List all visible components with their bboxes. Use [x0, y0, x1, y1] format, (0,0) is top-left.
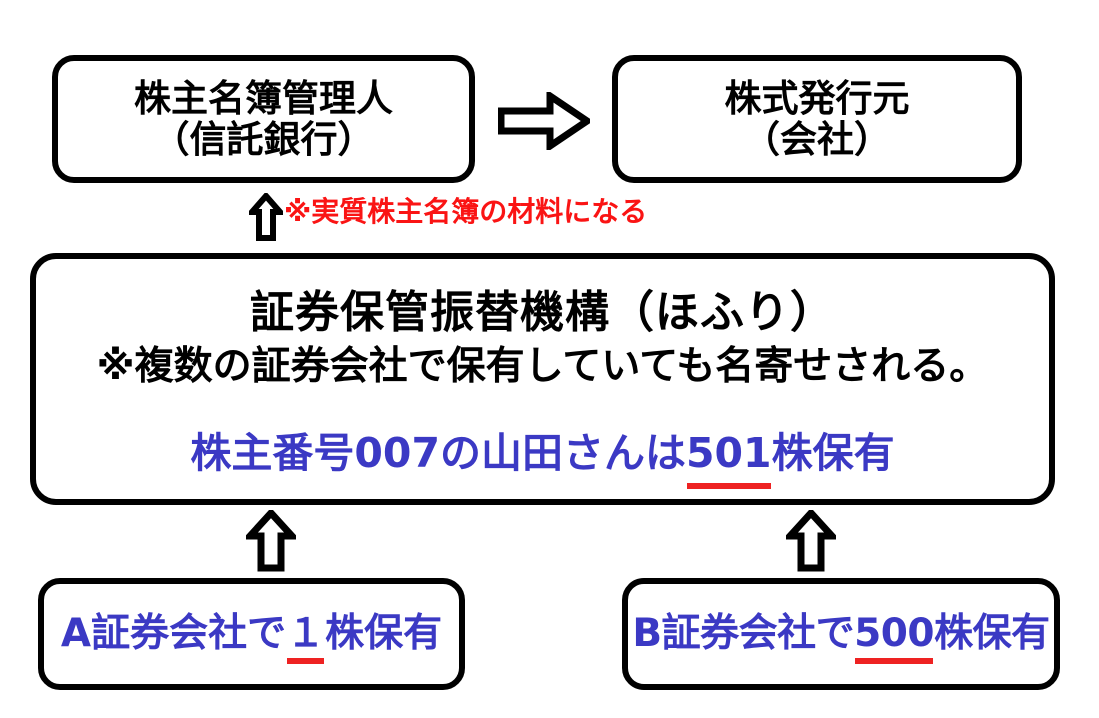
arrow-up-icon-to-registrar: [249, 193, 283, 241]
arrow-up-icon-broker-a: [246, 510, 296, 572]
broker-b-line: B証券会社で500株保有: [632, 613, 1049, 656]
annotation-material-note: ※実質株主名簿の材料になる: [284, 198, 647, 226]
broker-b-suffix: 株保有: [934, 611, 1050, 656]
box-broker-a: A証券会社で１株保有: [38, 578, 465, 690]
registrar-line2: （信託銀行）: [153, 119, 375, 160]
issuer-line1: 株式発行元: [725, 78, 910, 119]
broker-a-suffix: 株保有: [325, 611, 442, 656]
depository-title: 証券保管振替機構（ほふり）: [36, 285, 1049, 340]
broker-a-line: A証券会社で１株保有: [61, 613, 442, 656]
depository-note: ※複数の証券会社で保有していても名寄せされる。: [36, 342, 1049, 393]
issuer-line2: （会社）: [743, 119, 891, 160]
depository-content: 証券保管振替機構（ほふり） ※複数の証券会社で保有していても名寄せされる。 株主…: [36, 259, 1049, 480]
depository-holding-line: 株主番号007の山田さんは501株保有: [36, 427, 1049, 480]
box-share-issuer: 株式発行元 （会社）: [612, 55, 1022, 183]
depository-holding-suffix: 株保有: [772, 429, 895, 477]
depository-holding-amount: 501: [686, 427, 772, 480]
broker-b-amount: 500: [854, 613, 934, 656]
diagram-canvas: 株主名簿管理人 （信託銀行） 株式発行元 （会社） ※実質株主名簿の材料になる …: [0, 0, 1099, 718]
box-securities-depository-center: 証券保管振替機構（ほふり） ※複数の証券会社で保有していても名寄せされる。 株主…: [30, 253, 1055, 505]
depository-holding-prefix: 株主番号007の山田さんは: [190, 429, 686, 477]
box-broker-b: B証券会社で500株保有: [622, 578, 1060, 690]
broker-a-prefix: A証券会社で: [61, 611, 286, 656]
broker-a-amount: １: [286, 613, 325, 656]
box-shareholder-registry-administrator: 株主名簿管理人 （信託銀行）: [52, 55, 475, 183]
registrar-line1: 株主名簿管理人: [134, 78, 393, 119]
arrow-right-icon: [498, 92, 590, 150]
broker-b-prefix: B証券会社で: [632, 611, 854, 656]
arrow-up-icon-broker-b: [786, 510, 836, 572]
